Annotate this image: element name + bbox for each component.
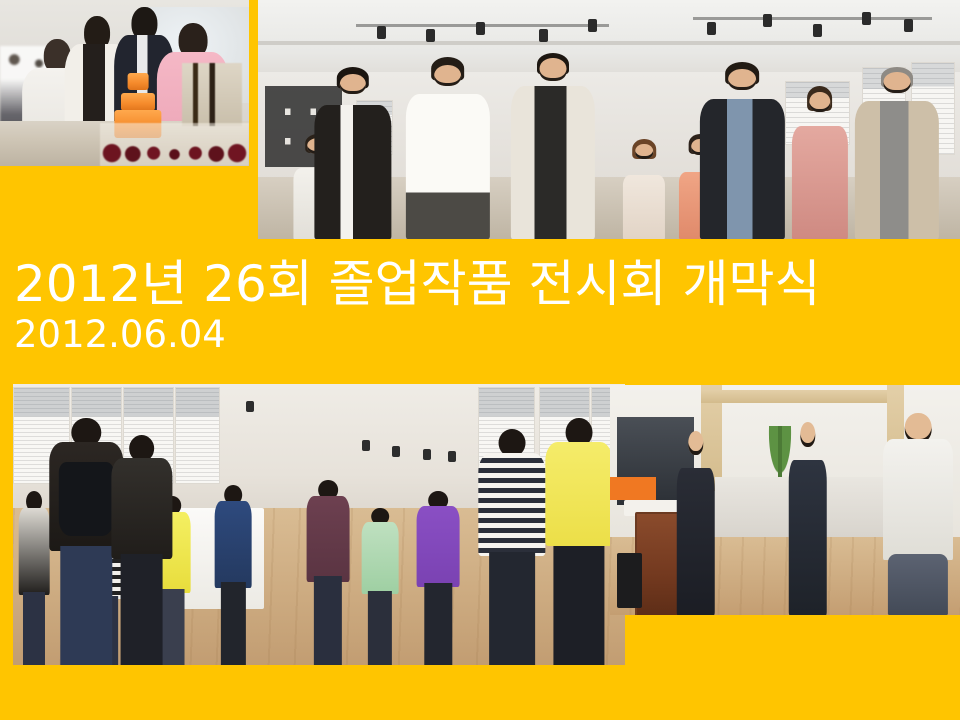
cake-cutting-ceremony-photo: [0, 0, 249, 166]
track-light-icon: [763, 14, 772, 27]
track-light-icon: [707, 22, 716, 35]
light-track-rail: [693, 17, 932, 20]
loudspeaker: [617, 553, 642, 608]
person-shirt: [883, 439, 953, 560]
person-figure-observer: [883, 413, 953, 615]
person-figure: [855, 67, 939, 239]
track-light-icon: [423, 449, 431, 460]
person-legs: [221, 582, 245, 665]
person-figure-standing: [789, 422, 828, 615]
person-figure: [215, 485, 252, 665]
track-light-icon: [813, 24, 822, 37]
person-torso: [362, 522, 399, 594]
person-legs: [120, 554, 163, 665]
person-legs: [314, 576, 342, 665]
person-torso: [111, 458, 172, 559]
wine-bottles: [182, 63, 242, 126]
page-title: 2012년 26회 졸업작품 전시회 개막식: [14, 255, 944, 313]
opening-speech-photo: [610, 385, 960, 615]
person-legs: [61, 546, 112, 665]
person-figure: [111, 435, 172, 665]
person-figure: [405, 57, 489, 239]
person-figure: [700, 62, 784, 239]
person-trousers: [888, 554, 948, 615]
person-figure: [362, 508, 399, 665]
person-head: [635, 144, 653, 159]
person-head: [809, 92, 830, 112]
person-legs: [489, 552, 535, 665]
photo-scene: [610, 385, 960, 615]
person-figure: [511, 53, 595, 239]
person-legs: [23, 592, 45, 665]
person-torso: [545, 442, 612, 546]
person-figure: [19, 491, 50, 665]
person-suit: [789, 460, 828, 615]
cake-tier-top: [128, 73, 149, 90]
photo-scene: [258, 0, 960, 239]
person-figure: [792, 86, 848, 239]
person-figure: [314, 67, 391, 239]
person-head: [434, 65, 462, 87]
person-suit: [677, 468, 716, 615]
person-torso: [478, 453, 545, 557]
person-figure: [417, 491, 460, 665]
person-torso: [19, 508, 50, 595]
track-light-icon: [476, 22, 485, 35]
track-light-icon: [377, 26, 386, 39]
photo-scene: [0, 0, 249, 166]
person-figure-speaker: [677, 431, 716, 615]
person-legs: [554, 546, 605, 665]
person-legs: [425, 583, 452, 665]
event-date: 2012.06.04: [14, 313, 944, 357]
presentation-slide: 2012년 26회 졸업작품 전시회 개막식 2012.06.04: [0, 0, 960, 720]
track-light-icon: [539, 29, 548, 42]
title-block: 2012년 26회 졸업작품 전시회 개막식 2012.06.04: [14, 255, 944, 357]
track-light-icon: [448, 451, 456, 462]
person-torso: [855, 101, 939, 239]
person-head: [883, 72, 910, 93]
person-torso: [700, 99, 784, 239]
track-light-icon: [862, 12, 871, 25]
person-figure: [307, 480, 350, 665]
backpack: [59, 462, 113, 536]
person-legs: [368, 591, 392, 665]
person-torso: [792, 126, 848, 239]
person-figure: [478, 429, 545, 665]
person-torso: [417, 506, 460, 586]
cake-tier-middle: [121, 93, 155, 112]
wooden-beam: [701, 390, 897, 404]
person-torso: [405, 94, 489, 239]
person-figure: [545, 418, 612, 665]
person-torso: [307, 496, 350, 581]
person-head: [728, 69, 756, 90]
track-light-icon: [588, 19, 597, 32]
photo-scene: [13, 384, 625, 665]
person-head: [800, 422, 815, 447]
wine-glasses: [100, 123, 249, 166]
exhibition-panel: [175, 387, 220, 485]
track-light-icon: [904, 19, 913, 32]
person-head: [340, 74, 366, 95]
ceiling-beam: [258, 41, 960, 45]
track-light-icon: [246, 401, 254, 412]
track-light-icon: [362, 440, 370, 451]
person-figure: [623, 139, 665, 239]
person-head: [688, 431, 703, 455]
person-torso: [623, 175, 665, 239]
orange-banner: [610, 477, 656, 500]
reception-crowd-photo: [13, 384, 625, 665]
person-torso: [511, 86, 595, 239]
track-light-icon: [426, 29, 435, 42]
person-head: [539, 58, 566, 80]
group-portrait-photo: [258, 0, 960, 239]
person-torso: [215, 501, 252, 587]
track-light-icon: [392, 446, 400, 457]
person-torso: [314, 105, 391, 239]
